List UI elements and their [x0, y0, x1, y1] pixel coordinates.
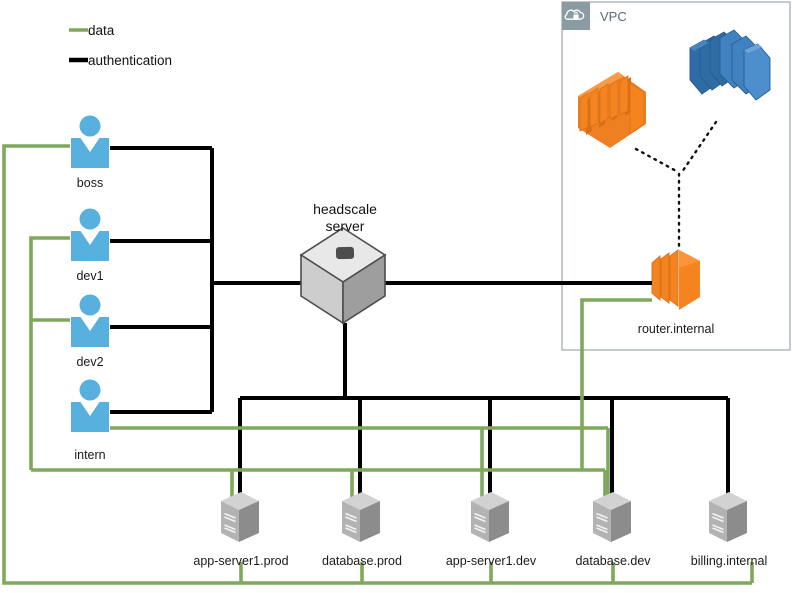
- server-node-database-dev[interactable]: database.dev: [575, 492, 651, 568]
- user-node-dev1[interactable]: dev1: [71, 209, 109, 284]
- user-label-dev1: dev1: [76, 269, 103, 283]
- data-wire-dev1: [31, 238, 70, 470]
- legend-label-authentication: authentication: [88, 53, 172, 68]
- user-label-boss: boss: [77, 176, 103, 190]
- headscale-server-node[interactable]: [301, 228, 385, 323]
- headscale-chip-icon: [336, 247, 354, 259]
- user-node-intern[interactable]: intern: [71, 380, 109, 463]
- server-node-billing-internal[interactable]: billing.internal: [691, 492, 767, 568]
- server-node-app-server1-dev[interactable]: app-server1.dev: [446, 492, 537, 568]
- user-node-dev2[interactable]: dev2: [71, 295, 109, 370]
- legend: data authentication: [69, 23, 172, 68]
- diagram-canvas: data authentication VPC: [0, 0, 792, 593]
- server-label-app-server1-prod: app-server1.prod: [193, 554, 288, 568]
- network-diagram: data authentication VPC: [0, 0, 792, 593]
- server-node-database-prod[interactable]: database.prod: [322, 492, 402, 568]
- user-node-boss[interactable]: boss: [71, 116, 109, 191]
- server-label-database-dev: database.dev: [575, 554, 651, 568]
- vpc-label: VPC: [600, 9, 627, 24]
- server-label-billing-internal: billing.internal: [691, 554, 767, 568]
- server-label-database-prod: database.prod: [322, 554, 402, 568]
- headscale-title-line2: server: [326, 218, 365, 234]
- server-label-app-server1-dev: app-server1.dev: [446, 554, 537, 568]
- cloud-node-label-router: router.internal: [638, 322, 714, 336]
- user-label-dev2: dev2: [76, 355, 103, 369]
- legend-label-data: data: [88, 23, 115, 38]
- headscale-title-line1: headscale: [313, 201, 377, 217]
- user-label-intern: intern: [74, 448, 105, 462]
